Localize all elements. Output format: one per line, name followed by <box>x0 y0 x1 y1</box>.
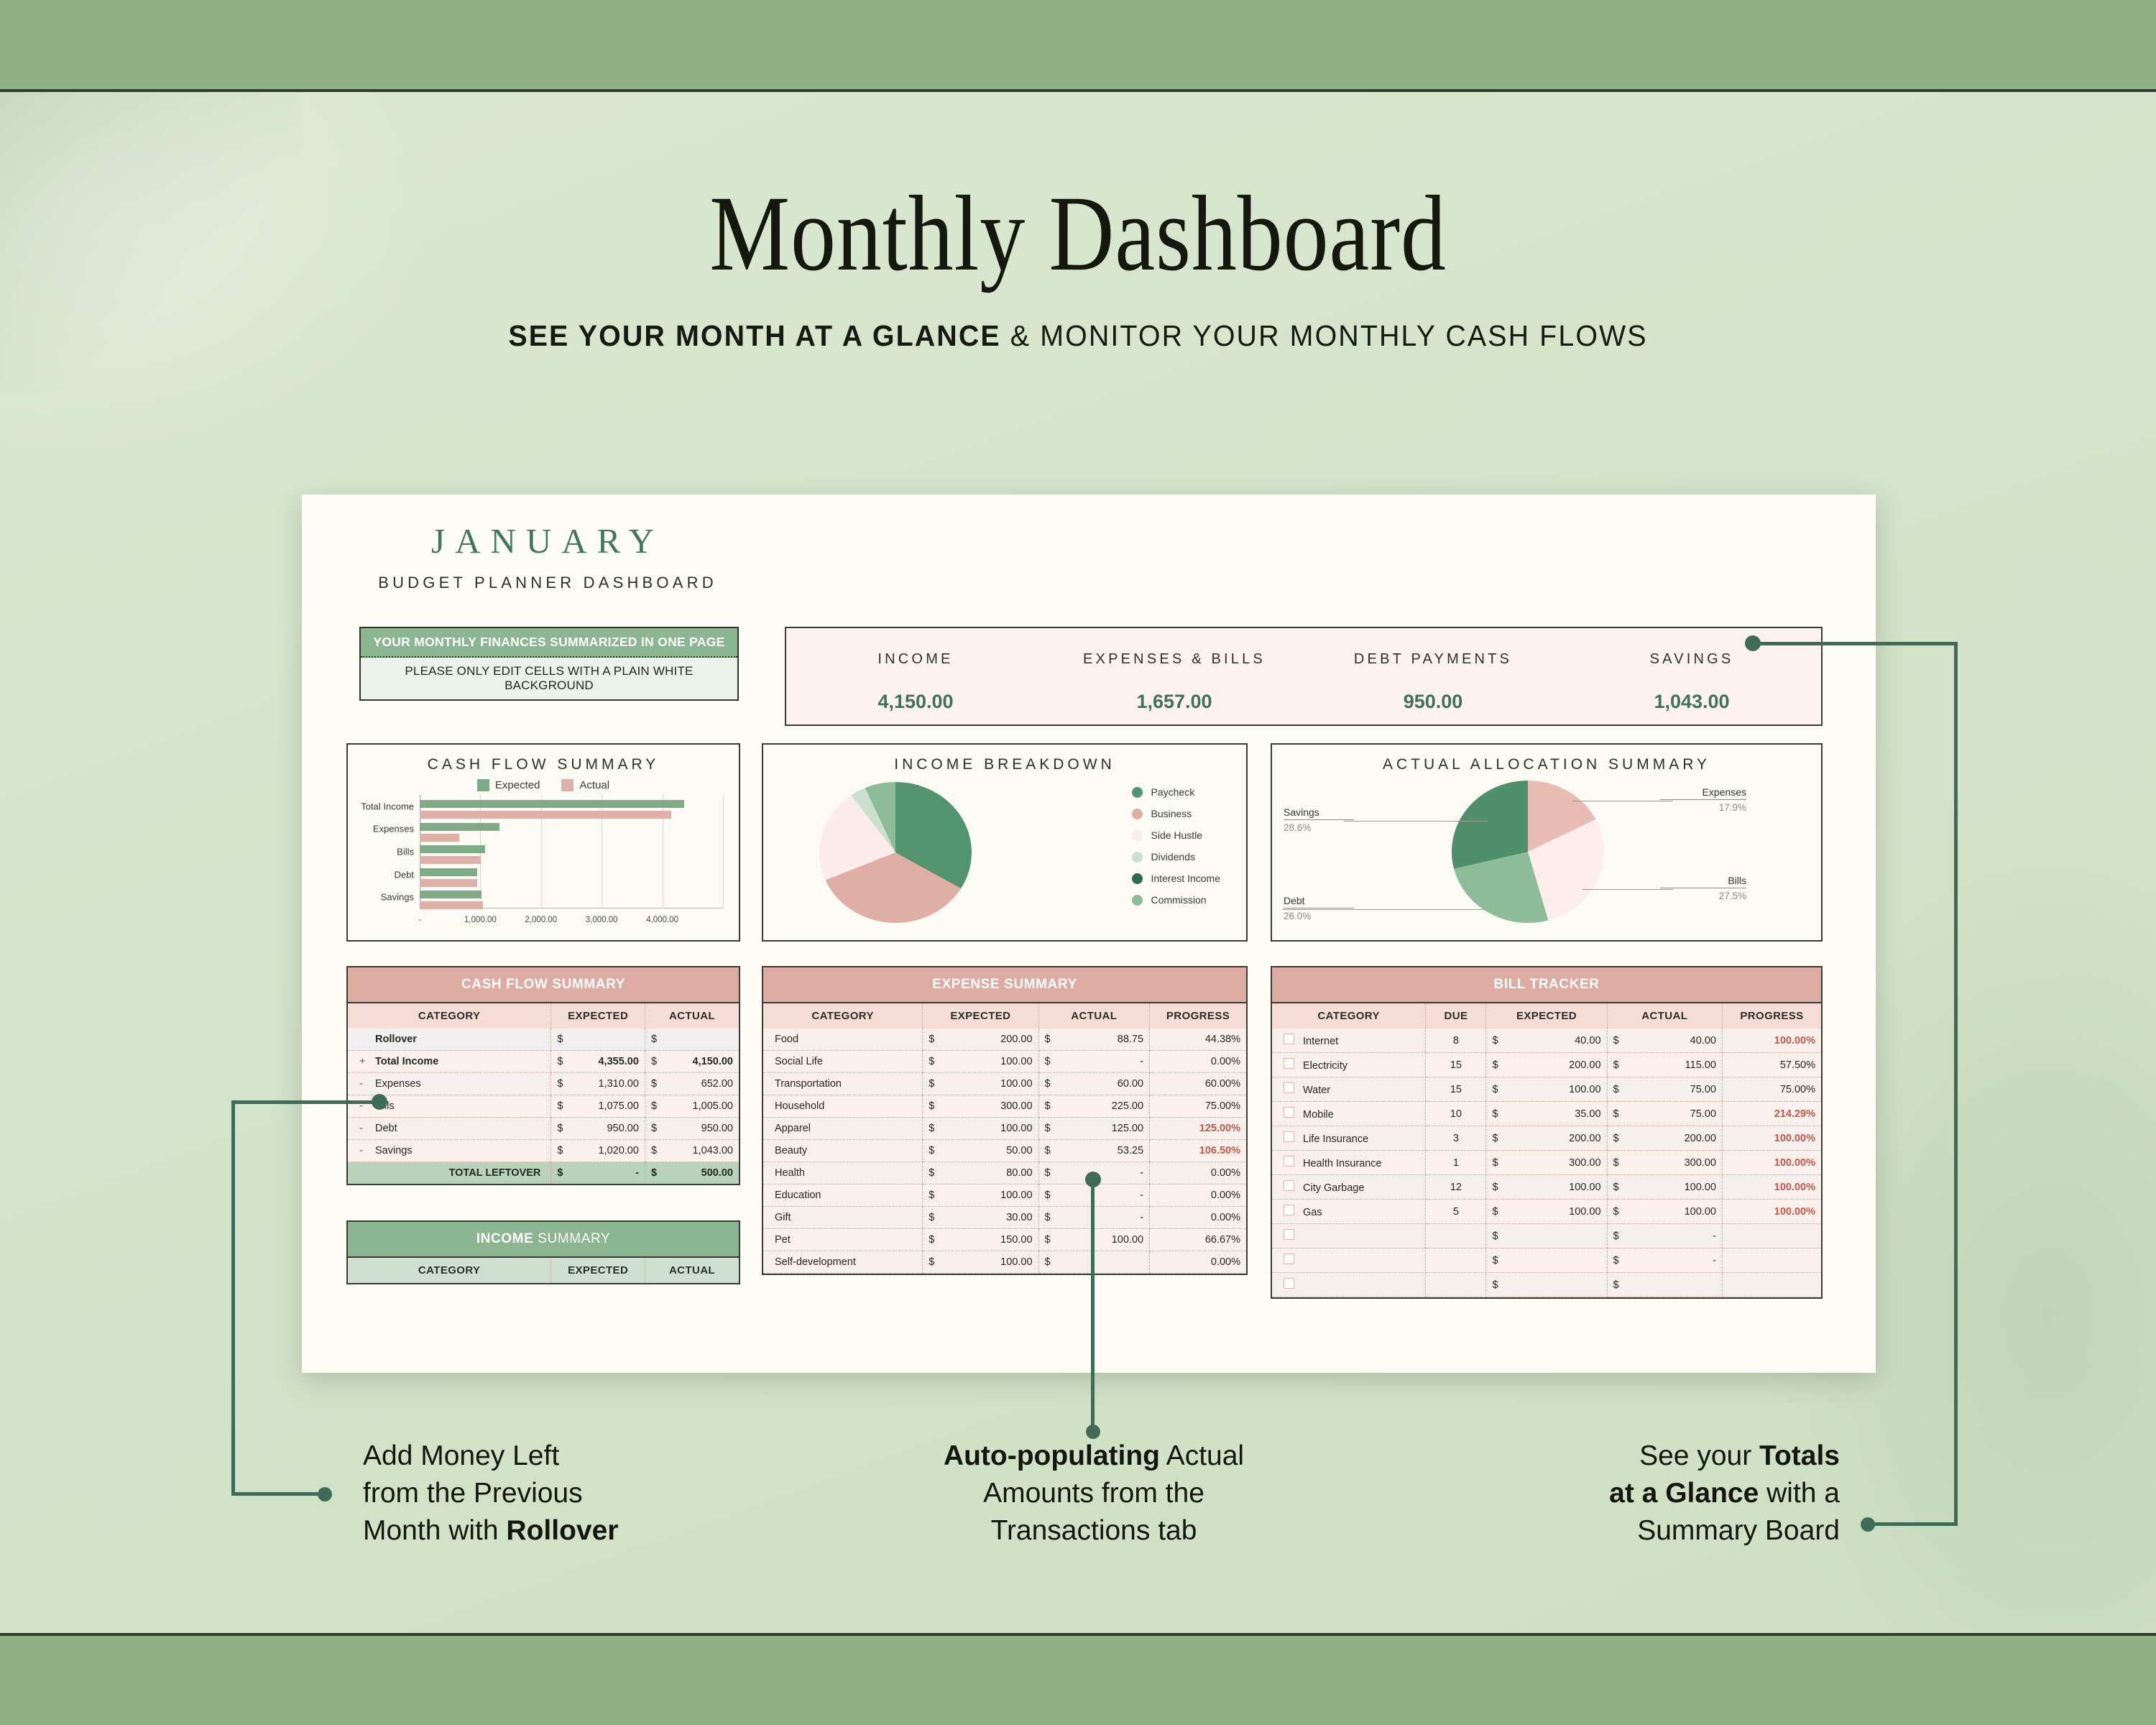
callout-savings: Savings 28.6% <box>1284 806 1354 833</box>
cell-category: Water <box>1272 1077 1426 1102</box>
cell-actual: $53.25 <box>1038 1140 1150 1162</box>
cell-category: Social Life <box>763 1051 923 1073</box>
cell-due: 15 <box>1426 1053 1486 1077</box>
bill-col-progress: PROGRESS <box>1722 1003 1821 1029</box>
cell-category <box>1272 1273 1426 1297</box>
cell-category: +Total Income <box>348 1051 551 1073</box>
cell-expected: $100.00 <box>1486 1077 1607 1102</box>
caption-autopop-line3: Transactions tab <box>849 1512 1338 1550</box>
cell-actual: $950.00 <box>645 1118 739 1140</box>
cell-category: Gift <box>763 1207 923 1229</box>
note-box: YOUR MONTHLY FINANCES SUMMARIZED IN ONE … <box>359 627 739 701</box>
income-breakdown-legend: PaycheckBusinessSide HustleDividendsInte… <box>1132 786 1221 916</box>
cell-progress: 66.67% <box>1150 1229 1246 1251</box>
caption-rollover-line2: from the Previous <box>363 1475 765 1512</box>
table-row[interactable]: Electricity15$200.00$115.0057.50% <box>1272 1053 1821 1077</box>
income-legend-item: Commission <box>1132 894 1221 906</box>
connector-dot-rollover-end <box>318 1487 332 1501</box>
legend-dot-icon <box>1132 809 1143 819</box>
kpi-debt-payments: DEBT PAYMENTS 950.00 <box>1304 628 1562 724</box>
cell-category <box>1272 1248 1426 1273</box>
cell-category: Beauty <box>763 1140 923 1162</box>
cash-flow-summary-table: CASH FLOW SUMMARY CATEGORY EXPECTED ACTU… <box>346 966 740 1185</box>
cell-due: 5 <box>1426 1200 1486 1224</box>
cell-actual: $652.00 <box>645 1073 739 1095</box>
leader-expenses <box>1572 801 1673 801</box>
cell-progress: 75.00% <box>1150 1095 1246 1118</box>
cell-expected: $35.00 <box>1486 1102 1607 1126</box>
cell-due: 1 <box>1426 1151 1486 1175</box>
caption-totals-line2: at a Glance with a <box>1409 1475 1840 1512</box>
legend-dot-icon <box>1132 830 1143 841</box>
note-banner-green: YOUR MONTHLY FINANCES SUMMARIZED IN ONE … <box>361 628 737 658</box>
income-summary-title-bold: INCOME <box>476 1231 534 1246</box>
cell-progress: 57.50% <box>1722 1053 1821 1077</box>
expense-summary-title: EXPENSE SUMMARY <box>763 967 1246 1003</box>
cell-progress <box>1722 1273 1821 1297</box>
caption-rollover: Add Money Left from the Previous Month w… <box>363 1437 765 1550</box>
bill-header-row: CATEGORY DUE EXPECTED ACTUAL PROGRESS <box>1272 1003 1821 1029</box>
table-row[interactable]: -Expenses$1,310.00$652.00 <box>348 1073 739 1095</box>
connector-savings-vertical <box>1954 642 1958 1526</box>
bar-expected <box>420 800 684 808</box>
actual-allocation-pie <box>1452 781 1604 923</box>
cell-category: City Garbage <box>1272 1175 1426 1200</box>
cell-category: Health Insurance <box>1272 1151 1426 1175</box>
bar-actual <box>420 834 459 842</box>
table-row[interactable]: Gas5$100.00$100.00100.00% <box>1272 1200 1821 1224</box>
caption-autopop: Auto-populating Actual Amounts from the … <box>849 1437 1338 1550</box>
cell-category: Gas <box>1272 1200 1426 1224</box>
connector-rollover-vertical <box>231 1100 235 1496</box>
cell-due: 8 <box>1426 1029 1486 1053</box>
x-tick-label: 3,000.00 <box>586 916 618 924</box>
callout-debt-value: 26.0% <box>1284 911 1354 921</box>
income-legend-item: Paycheck <box>1132 786 1221 798</box>
income-legend-label: Interest Income <box>1151 873 1221 884</box>
table-row[interactable]: Self-development$100.00$0.00% <box>763 1251 1246 1274</box>
x-tick-label: 2,000.00 <box>525 916 557 924</box>
bill-col-expected: EXPECTED <box>1486 1003 1607 1029</box>
table-row[interactable]: -Debt$950.00$950.00 <box>348 1118 739 1140</box>
cell-actual: $- <box>1607 1248 1722 1273</box>
cell-total-actual: $500.00 <box>645 1162 739 1184</box>
cell-category: Rollover <box>348 1029 551 1051</box>
legend-dot-icon <box>1132 895 1143 906</box>
table-row[interactable]: Household$300.00$225.0075.00% <box>763 1095 1246 1118</box>
month-title: JANUARY <box>346 520 749 561</box>
x-tick-label: 1,000.00 <box>464 916 497 924</box>
cell-category: Apparel <box>763 1118 923 1140</box>
bar-expected <box>420 845 485 853</box>
bar-category-label: Bills <box>351 846 414 857</box>
caption-autopop-line2: Amounts from the <box>849 1475 1338 1512</box>
cell-category: Life Insurance <box>1272 1126 1426 1151</box>
cell-expected: $ <box>1486 1248 1607 1273</box>
bill-tracker-title: BILL TRACKER <box>1272 967 1821 1003</box>
kpi-savings-label: SAVINGS <box>1562 651 1821 668</box>
table-row[interactable]: Gift$30.00$-0.00% <box>763 1207 1246 1229</box>
caption-autopop-line1: Auto-populating Actual <box>849 1437 1338 1475</box>
income-legend-item: Interest Income <box>1132 873 1221 884</box>
callout-debt: Debt 26.0% <box>1284 895 1354 921</box>
callout-expenses: Expenses 17.9% <box>1660 786 1746 813</box>
bill-paid-checkbox[interactable] <box>1284 1156 1294 1167</box>
cell-actual: $4,150.00 <box>645 1051 739 1073</box>
cell-actual: $40.00 <box>1607 1029 1722 1053</box>
cell-progress: 44.38% <box>1150 1029 1246 1051</box>
connector-totals-horizontal <box>1866 1522 1958 1526</box>
cell-expected: $100.00 <box>923 1051 1038 1073</box>
cell-actual: $100.00 <box>1607 1200 1722 1224</box>
bill-paid-checkbox[interactable] <box>1284 1205 1294 1215</box>
table-row[interactable]: $$- <box>1272 1248 1821 1273</box>
table-row[interactable]: Internet8$40.00$40.00100.00% <box>1272 1029 1821 1053</box>
income-header-row: CATEGORY EXPECTED ACTUAL <box>348 1258 739 1283</box>
cell-actual: $88.75 <box>1038 1029 1150 1051</box>
cell-due: 3 <box>1426 1126 1486 1151</box>
cell-progress: 106.50% <box>1150 1140 1246 1162</box>
bill-paid-checkbox[interactable] <box>1284 1229 1294 1240</box>
connector-dot-totals <box>1861 1517 1875 1532</box>
exp-col-progress: PROGRESS <box>1150 1003 1246 1029</box>
income-breakdown-pie <box>819 782 972 923</box>
bar-group: Expenses <box>420 823 723 836</box>
cell-expected: $100.00 <box>1486 1175 1607 1200</box>
cell-category <box>1272 1224 1426 1248</box>
income-legend-item: Business <box>1132 808 1221 819</box>
table-row[interactable]: $$ <box>1272 1273 1821 1297</box>
bill-col-due: DUE <box>1426 1003 1486 1029</box>
callout-bills-label: Bills <box>1660 875 1746 888</box>
connector-rollover-horizontal <box>231 1100 375 1104</box>
caption-autopop-line1-bold: Auto-populating <box>944 1440 1160 1471</box>
table-row[interactable]: -Bills$1,075.00$1,005.00 <box>348 1095 739 1118</box>
cash-flow-chart-legend: Expected Actual <box>348 779 739 791</box>
page-title: Monthly Dashboard <box>172 180 1984 287</box>
bar-expected <box>420 868 477 876</box>
cell-actual: $115.00 <box>1607 1053 1722 1077</box>
cash-flow-chart-title: CASH FLOW SUMMARY <box>348 745 739 773</box>
bar-group: Savings <box>420 891 723 903</box>
bill-tracker-grid: CATEGORY DUE EXPECTED ACTUAL PROGRESS In… <box>1272 1003 1821 1297</box>
bar-expected <box>420 823 499 831</box>
exp-col-expected: EXPECTED <box>923 1003 1038 1029</box>
cash-flow-bars-area: Total IncomeExpensesBillsDebtSavings <box>420 795 723 908</box>
income-legend-label: Paycheck <box>1151 786 1195 798</box>
bill-paid-checkbox[interactable] <box>1284 1253 1294 1264</box>
cell-progress: 100.00% <box>1722 1029 1821 1053</box>
cell-expected: $50.00 <box>923 1140 1038 1162</box>
table-row[interactable]: Pet$150.00$100.0066.67% <box>763 1229 1246 1251</box>
cell-category: Pet <box>763 1229 923 1251</box>
caption-totals-line1: See your Totals <box>1409 1437 1840 1475</box>
cell-expected: $200.00 <box>1486 1053 1607 1077</box>
bottom-band <box>0 1633 2156 1725</box>
cash-flow-x-labels: -1,000.002,000.003,000.004,000.00 <box>420 916 723 927</box>
legend-label-expected: Expected <box>495 779 540 791</box>
cell-due <box>1426 1248 1486 1273</box>
cash-flow-chart-panel: CASH FLOW SUMMARY Expected Actual Total … <box>346 743 740 942</box>
expense-header-row: CATEGORY EXPECTED ACTUAL PROGRESS <box>763 1003 1246 1029</box>
bill-paid-checkbox[interactable] <box>1284 1131 1294 1142</box>
x-tick-label: - <box>418 916 421 924</box>
income-legend-label: Side Hustle <box>1151 829 1203 841</box>
cell-category: -Debt <box>348 1118 551 1140</box>
bar-group: Total Income <box>420 800 723 813</box>
bill-paid-checkbox[interactable] <box>1284 1180 1294 1191</box>
cell-category: -Expenses <box>348 1073 551 1095</box>
bar-category-label: Savings <box>351 892 414 903</box>
table-row[interactable]: Health Insurance1$300.00$300.00100.00% <box>1272 1151 1821 1175</box>
kpi-savings-value: 1,043.00 <box>1562 691 1821 713</box>
kpi-strip: INCOME 4,150.00 EXPENSES & BILLS 1,657.0… <box>785 627 1823 726</box>
income-col-actual: ACTUAL <box>645 1258 739 1283</box>
caption-rollover-line1: Add Money Left <box>363 1437 765 1475</box>
cell-expected: $1,075.00 <box>551 1095 645 1118</box>
bill-col-category: CATEGORY <box>1272 1003 1426 1029</box>
bill-col-actual: ACTUAL <box>1607 1003 1722 1029</box>
cell-expected: $ <box>1486 1273 1607 1297</box>
callout-expenses-label: Expenses <box>1660 786 1746 800</box>
table-row[interactable]: Social Life$100.00$-0.00% <box>763 1051 1246 1073</box>
income-breakdown-title: INCOME BREAKDOWN <box>763 745 1246 773</box>
cell-expected: $1,310.00 <box>551 1073 645 1095</box>
cell-category: Electricity <box>1272 1053 1426 1077</box>
cell-due: 15 <box>1426 1077 1486 1102</box>
caption-rollover-line3-bold: Rollover <box>506 1515 618 1546</box>
cell-category: Self-development <box>763 1251 923 1274</box>
income-legend-item: Side Hustle <box>1132 829 1221 841</box>
cell-progress <box>1722 1248 1821 1273</box>
kpi-debt-value: 950.00 <box>1304 691 1562 713</box>
cell-expected: $40.00 <box>1486 1029 1607 1053</box>
callout-debt-label: Debt <box>1284 895 1354 908</box>
table-header-row: CATEGORY EXPECTED ACTUAL <box>348 1003 739 1029</box>
table-row[interactable]: Education$100.00$-0.00% <box>763 1184 1246 1207</box>
cell-expected: $4,355.00 <box>551 1051 645 1073</box>
exp-col-actual: ACTUAL <box>1038 1003 1150 1029</box>
bill-tracker-table: BILL TRACKER CATEGORY DUE EXPECTED ACTUA… <box>1271 966 1823 1299</box>
cell-actual: $300.00 <box>1607 1151 1722 1175</box>
table-total-row: TOTAL LEFTOVER$-$500.00 <box>348 1162 739 1184</box>
income-col-expected: EXPECTED <box>551 1258 645 1283</box>
actual-allocation-panel: ACTUAL ALLOCATION SUMMARY Expenses 17.9%… <box>1271 743 1823 942</box>
table-row[interactable]: -Savings$1,020.00$1,043.00 <box>348 1140 739 1162</box>
cell-progress: 75.00% <box>1722 1077 1821 1102</box>
cell-progress: 125.00% <box>1150 1118 1246 1140</box>
legend-dot-icon <box>1132 852 1143 862</box>
cell-expected: $100.00 <box>923 1118 1038 1140</box>
bill-paid-checkbox[interactable] <box>1284 1107 1294 1118</box>
kpi-income-value: 4,150.00 <box>786 691 1045 713</box>
cell-actual: $75.00 <box>1607 1102 1722 1126</box>
cell-actual: $100.00 <box>1607 1175 1722 1200</box>
table-row[interactable]: City Garbage12$100.00$100.00100.00% <box>1272 1175 1821 1200</box>
caption-autopop-line1-post: Actual <box>1160 1440 1244 1471</box>
bill-paid-checkbox[interactable] <box>1284 1278 1294 1289</box>
cell-due <box>1426 1224 1486 1248</box>
legend-dot-icon <box>1132 873 1143 884</box>
bill-paid-checkbox[interactable] <box>1284 1082 1294 1093</box>
cell-expected: $150.00 <box>923 1229 1038 1251</box>
kpi-income-label: INCOME <box>786 651 1045 668</box>
legend-actual: Actual <box>561 779 609 791</box>
cell-progress <box>1722 1224 1821 1248</box>
bar-group: Bills <box>420 845 723 858</box>
cell-progress: 0.00% <box>1150 1207 1246 1229</box>
cell-actual: $- <box>1607 1224 1722 1248</box>
caption-totals-line2-post: with a <box>1759 1478 1840 1509</box>
table-row[interactable]: Apparel$100.00$125.00125.00% <box>763 1118 1246 1140</box>
callout-expenses-value: 17.9% <box>1660 802 1746 813</box>
bar-category-label: Debt <box>351 869 414 880</box>
cell-actual: $1,005.00 <box>645 1095 739 1118</box>
table-row[interactable]: Transportation$100.00$60.0060.00% <box>763 1073 1246 1095</box>
cell-due <box>1426 1273 1486 1297</box>
col-actual: ACTUAL <box>645 1003 739 1029</box>
cell-category: Education <box>763 1184 923 1207</box>
caption-totals-line1-pre: See your <box>1639 1440 1759 1471</box>
note-banner-white: PLEASE ONLY EDIT CELLS WITH A PLAIN WHIT… <box>361 658 737 699</box>
table-row[interactable]: Beauty$50.00$53.25106.50% <box>763 1140 1246 1162</box>
subtitle-rest: & MONITOR YOUR MONTHLY CASH FLOWS <box>1001 319 1648 352</box>
cell-progress: 60.00% <box>1150 1073 1246 1095</box>
expense-summary-grid: CATEGORY EXPECTED ACTUAL PROGRESS Food$2… <box>763 1003 1246 1274</box>
caption-rollover-line3-pre: Month with <box>363 1515 506 1546</box>
callout-savings-value: 28.6% <box>1284 822 1354 833</box>
cell-expected: $30.00 <box>923 1207 1038 1229</box>
income-summary-title-light: SUMMARY <box>533 1231 610 1246</box>
caption-totals-line2-bold: at a Glance <box>1609 1478 1759 1509</box>
subtitle-bold: SEE YOUR MONTH AT A GLANCE <box>508 319 1000 352</box>
top-band <box>0 0 2156 92</box>
cell-expected: $80.00 <box>923 1162 1038 1184</box>
cash-flow-table-title: CASH FLOW SUMMARY <box>348 967 739 1003</box>
caption-rollover-line3: Month with Rollover <box>363 1512 765 1550</box>
table-row[interactable]: Food$200.00$88.7544.38% <box>763 1029 1246 1051</box>
dashboard-card: JANUARY BUDGET PLANNER DASHBOARD YOUR MO… <box>302 494 1876 1373</box>
kpi-expenses-label: EXPENSES & BILLS <box>1045 651 1304 668</box>
cell-actual: $- <box>1038 1051 1150 1073</box>
col-category: CATEGORY <box>348 1003 551 1029</box>
cell-progress: 100.00% <box>1722 1151 1821 1175</box>
cell-expected: $1,020.00 <box>551 1140 645 1162</box>
expense-summary-table: EXPENSE SUMMARY CATEGORY EXPECTED ACTUAL… <box>762 966 1248 1275</box>
cell-expected: $100.00 <box>923 1251 1038 1274</box>
cell-expected: $100.00 <box>923 1184 1038 1207</box>
cell-progress: 0.00% <box>1150 1051 1246 1073</box>
income-legend-label: Commission <box>1151 894 1207 906</box>
cell-expected: $ <box>551 1029 645 1051</box>
bar-actual <box>420 856 481 864</box>
cell-total-expected: $- <box>551 1162 645 1184</box>
cell-actual: $ <box>645 1029 739 1051</box>
connector-autopop-vertical <box>1091 1179 1095 1430</box>
connector-dot-autopop-end <box>1086 1425 1100 1439</box>
cell-actual: $200.00 <box>1607 1126 1722 1151</box>
callout-savings-label: Savings <box>1284 806 1354 820</box>
cell-expected: $300.00 <box>923 1095 1038 1118</box>
cell-actual: $ <box>1607 1273 1722 1297</box>
cell-actual: $75.00 <box>1607 1077 1722 1102</box>
cell-progress: 0.00% <box>1150 1251 1246 1274</box>
legend-swatch-actual <box>561 779 573 791</box>
cell-category: Internet <box>1272 1029 1426 1053</box>
table-row[interactable]: Rollover$$ <box>348 1029 739 1051</box>
cell-expected: $100.00 <box>1486 1200 1607 1224</box>
income-summary-grid: CATEGORY EXPECTED ACTUAL <box>348 1258 739 1283</box>
table-row[interactable]: +Total Income$4,355.00$4,150.00 <box>348 1051 739 1073</box>
bar-category-label: Expenses <box>351 824 414 834</box>
page-header: Monthly Dashboard SEE YOUR MONTH AT A GL… <box>0 180 2156 353</box>
cell-progress: 214.29% <box>1722 1102 1821 1126</box>
income-summary-title: INCOME SUMMARY <box>348 1222 739 1258</box>
income-summary-table: INCOME SUMMARY CATEGORY EXPECTED ACTUAL <box>346 1220 740 1284</box>
income-legend-label: Dividends <box>1151 851 1195 862</box>
bill-paid-checkbox[interactable] <box>1284 1034 1294 1044</box>
cell-category: -Savings <box>348 1140 551 1162</box>
cell-expected: $200.00 <box>923 1029 1038 1051</box>
kpi-income: INCOME 4,150.00 <box>786 628 1045 724</box>
income-breakdown-panel: INCOME BREAKDOWN PaycheckBusinessSide Hu… <box>762 743 1248 942</box>
col-expected: EXPECTED <box>551 1003 645 1029</box>
caption-totals-line1-bold: Totals <box>1759 1440 1840 1471</box>
kpi-expenses-value: 1,657.00 <box>1045 691 1304 713</box>
bar-category-label: Total Income <box>351 801 414 811</box>
income-legend-item: Dividends <box>1132 851 1221 862</box>
cell-category: Health <box>763 1162 923 1184</box>
cell-actual: $60.00 <box>1038 1073 1150 1095</box>
connector-rollover-bottom <box>231 1492 323 1496</box>
bar-actual <box>420 879 477 887</box>
callout-bills: Bills 27.5% <box>1660 875 1746 901</box>
cell-progress: 100.00% <box>1722 1126 1821 1151</box>
table-row[interactable]: Life Insurance3$200.00$200.00100.00% <box>1272 1126 1821 1151</box>
cell-progress: 0.00% <box>1150 1162 1246 1184</box>
income-col-category: CATEGORY <box>348 1258 551 1283</box>
income-legend-label: Business <box>1151 808 1192 819</box>
callout-bills-value: 27.5% <box>1660 891 1746 901</box>
table-row[interactable]: Health$80.00$-0.00% <box>763 1162 1246 1184</box>
legend-label-actual: Actual <box>579 779 609 791</box>
cell-expected: $950.00 <box>551 1118 645 1140</box>
cell-progress: 0.00% <box>1150 1184 1246 1207</box>
cell-progress: 100.00% <box>1722 1175 1821 1200</box>
cell-expected: $300.00 <box>1486 1151 1607 1175</box>
cell-actual: $1,043.00 <box>645 1140 739 1162</box>
cash-flow-table: CATEGORY EXPECTED ACTUAL Rollover$$+Tota… <box>348 1003 739 1184</box>
kpi-expenses-bills: EXPENSES & BILLS 1,657.00 <box>1045 628 1304 724</box>
kpi-debt-label: DEBT PAYMENTS <box>1304 651 1562 668</box>
cell-expected: $200.00 <box>1486 1126 1607 1151</box>
table-row[interactable]: $$- <box>1272 1224 1821 1248</box>
bill-paid-checkbox[interactable] <box>1284 1058 1294 1069</box>
cell-due: 12 <box>1426 1175 1486 1200</box>
cell-expected: $ <box>1486 1224 1607 1248</box>
page-subtitle: SEE YOUR MONTH AT A GLANCE & MONITOR YOU… <box>43 319 2113 353</box>
gridline-5000 <box>723 795 724 908</box>
actual-allocation-title: ACTUAL ALLOCATION SUMMARY <box>1272 745 1821 773</box>
bar-group: Debt <box>420 868 723 881</box>
month-subtitle: BUDGET PLANNER DASHBOARD <box>346 574 749 592</box>
connector-savings-horizontal <box>1753 642 1958 645</box>
cell-total-label: TOTAL LEFTOVER <box>348 1162 551 1184</box>
table-row[interactable]: Mobile10$35.00$75.00214.29% <box>1272 1102 1821 1126</box>
cell-actual: $225.00 <box>1038 1095 1150 1118</box>
cell-category: Household <box>763 1095 923 1118</box>
table-row[interactable]: Water15$100.00$75.0075.00% <box>1272 1077 1821 1102</box>
